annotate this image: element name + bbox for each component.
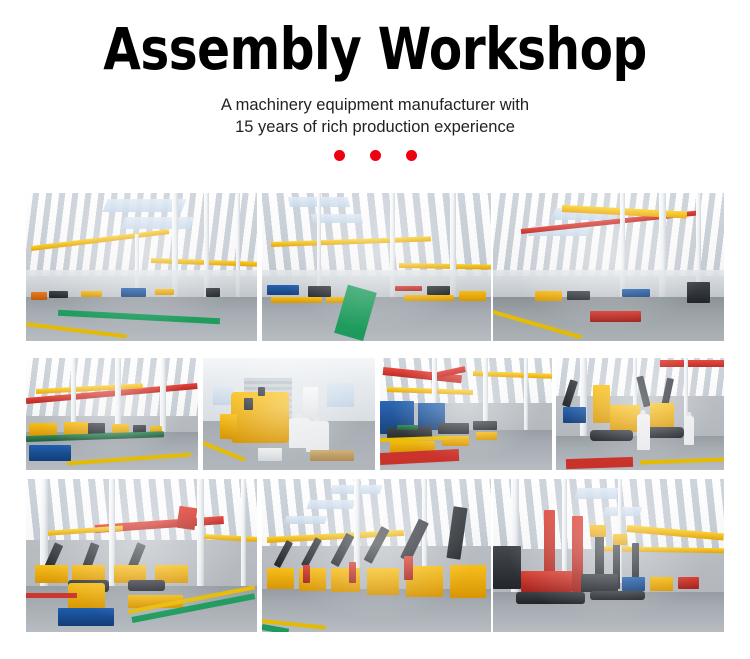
machine [567, 291, 590, 300]
gallery-row-top [26, 193, 724, 341]
worker [306, 421, 328, 452]
drill-rig [593, 385, 610, 423]
crawler-track [516, 592, 585, 604]
structural-column [524, 358, 528, 434]
dot-1 [334, 150, 345, 161]
gallery-photo-top-3[interactable] [493, 193, 724, 341]
structural-column [580, 358, 587, 448]
engine-detail [258, 387, 265, 396]
gallery-photo-bottom-2[interactable] [262, 479, 491, 632]
skylight [602, 507, 642, 516]
worker [637, 414, 650, 450]
crawler-track [128, 580, 165, 591]
crawler-track [590, 430, 634, 441]
subtitle-line-2: 15 years of rich production experience [0, 116, 750, 138]
machine [427, 286, 450, 295]
engine-unit [231, 392, 289, 444]
crawler-track [590, 591, 645, 600]
workshop-scene [556, 358, 724, 470]
machine [206, 288, 220, 297]
crane-beam-red [660, 360, 724, 367]
gallery-photo-bottom-3[interactable] [493, 479, 724, 632]
floor-line-red [566, 457, 633, 469]
chassis-frame [473, 421, 497, 430]
gallery-photo-top-1[interactable] [26, 193, 257, 341]
drill-rig [267, 568, 294, 589]
dot-3 [406, 150, 417, 161]
machine [535, 291, 563, 301]
page-title: Assembly Workshop [26, 18, 724, 80]
drill-rig [450, 565, 487, 599]
gallery-photo-middle-1[interactable] [26, 358, 198, 470]
rig-body [678, 577, 699, 589]
workshop-scene [380, 358, 552, 470]
gallery-row-middle [26, 358, 724, 470]
machine [459, 291, 486, 301]
chassis-pad [397, 425, 418, 429]
machine [271, 297, 321, 303]
workshop-scene [203, 358, 375, 470]
drill-rig [367, 568, 399, 596]
skylight [574, 488, 619, 499]
rig-body [650, 577, 673, 591]
gallery-photo-middle-3[interactable] [380, 358, 552, 470]
worker [684, 416, 694, 445]
photo-gallery [26, 193, 724, 632]
workshop-scene [26, 479, 257, 632]
machine-base [29, 445, 70, 461]
drill-head [590, 525, 606, 537]
floor-line-red [26, 593, 77, 598]
workshop-scene [26, 358, 198, 470]
drill-rig [331, 568, 361, 592]
rig-body [521, 571, 572, 592]
machine [155, 289, 173, 295]
crane-beam [399, 263, 491, 270]
machine [590, 311, 641, 321]
rig-body [581, 574, 618, 592]
machine [81, 291, 102, 297]
skylight [121, 217, 195, 229]
machine [622, 289, 650, 296]
decorative-dots [0, 150, 750, 161]
machine [267, 285, 299, 295]
excavator [493, 546, 521, 589]
workshop-scene [262, 193, 491, 341]
engine-detail [244, 398, 253, 409]
banner-header: Assembly Workshop A machinery equipment … [0, 0, 750, 161]
skylight [284, 516, 327, 524]
gallery-photo-middle-4[interactable] [556, 358, 724, 470]
gallery-photo-bottom-1[interactable] [26, 479, 257, 632]
chassis-frame [438, 423, 469, 434]
workshop-scene [493, 479, 724, 632]
rig-detail [349, 562, 356, 583]
transport-cart [476, 432, 497, 440]
structural-column [241, 479, 246, 589]
skylight [306, 500, 354, 509]
machine [308, 286, 331, 296]
machine [404, 295, 454, 301]
banner-subtitle: A machinery equipment manufacturer with … [0, 94, 750, 138]
crane-beam-red [177, 505, 198, 529]
floor [262, 297, 491, 341]
excavator [35, 565, 67, 583]
rack-frame [58, 608, 113, 626]
engine-part [220, 414, 237, 439]
rig-body [622, 577, 645, 591]
machine [49, 291, 67, 298]
workshop-scene [26, 193, 257, 341]
gallery-photo-top-2[interactable] [262, 193, 491, 341]
machine [31, 292, 47, 299]
assembly-workshop-banner: Assembly Workshop A machinery equipment … [0, 0, 750, 659]
machine [687, 282, 710, 303]
workshop-scene [493, 193, 724, 341]
wooden-pallet [310, 450, 355, 461]
machine [563, 407, 587, 423]
window [327, 383, 355, 408]
door [303, 387, 318, 421]
gallery-photo-middle-2[interactable] [203, 358, 375, 470]
machine [395, 286, 422, 290]
drill-rig [610, 405, 640, 432]
dot-2 [370, 150, 381, 161]
toolbox [258, 448, 282, 461]
rig-detail [404, 556, 413, 580]
subtitle-line-1: A machinery equipment manufacturer with [0, 94, 750, 116]
drill-rig [650, 403, 674, 430]
machine [121, 288, 146, 297]
drill-head [613, 534, 627, 545]
gallery-row-bottom [26, 479, 724, 632]
workshop-scene [262, 479, 491, 632]
rig-detail [303, 565, 310, 583]
crawler-track [647, 427, 684, 437]
structural-column [197, 479, 204, 592]
